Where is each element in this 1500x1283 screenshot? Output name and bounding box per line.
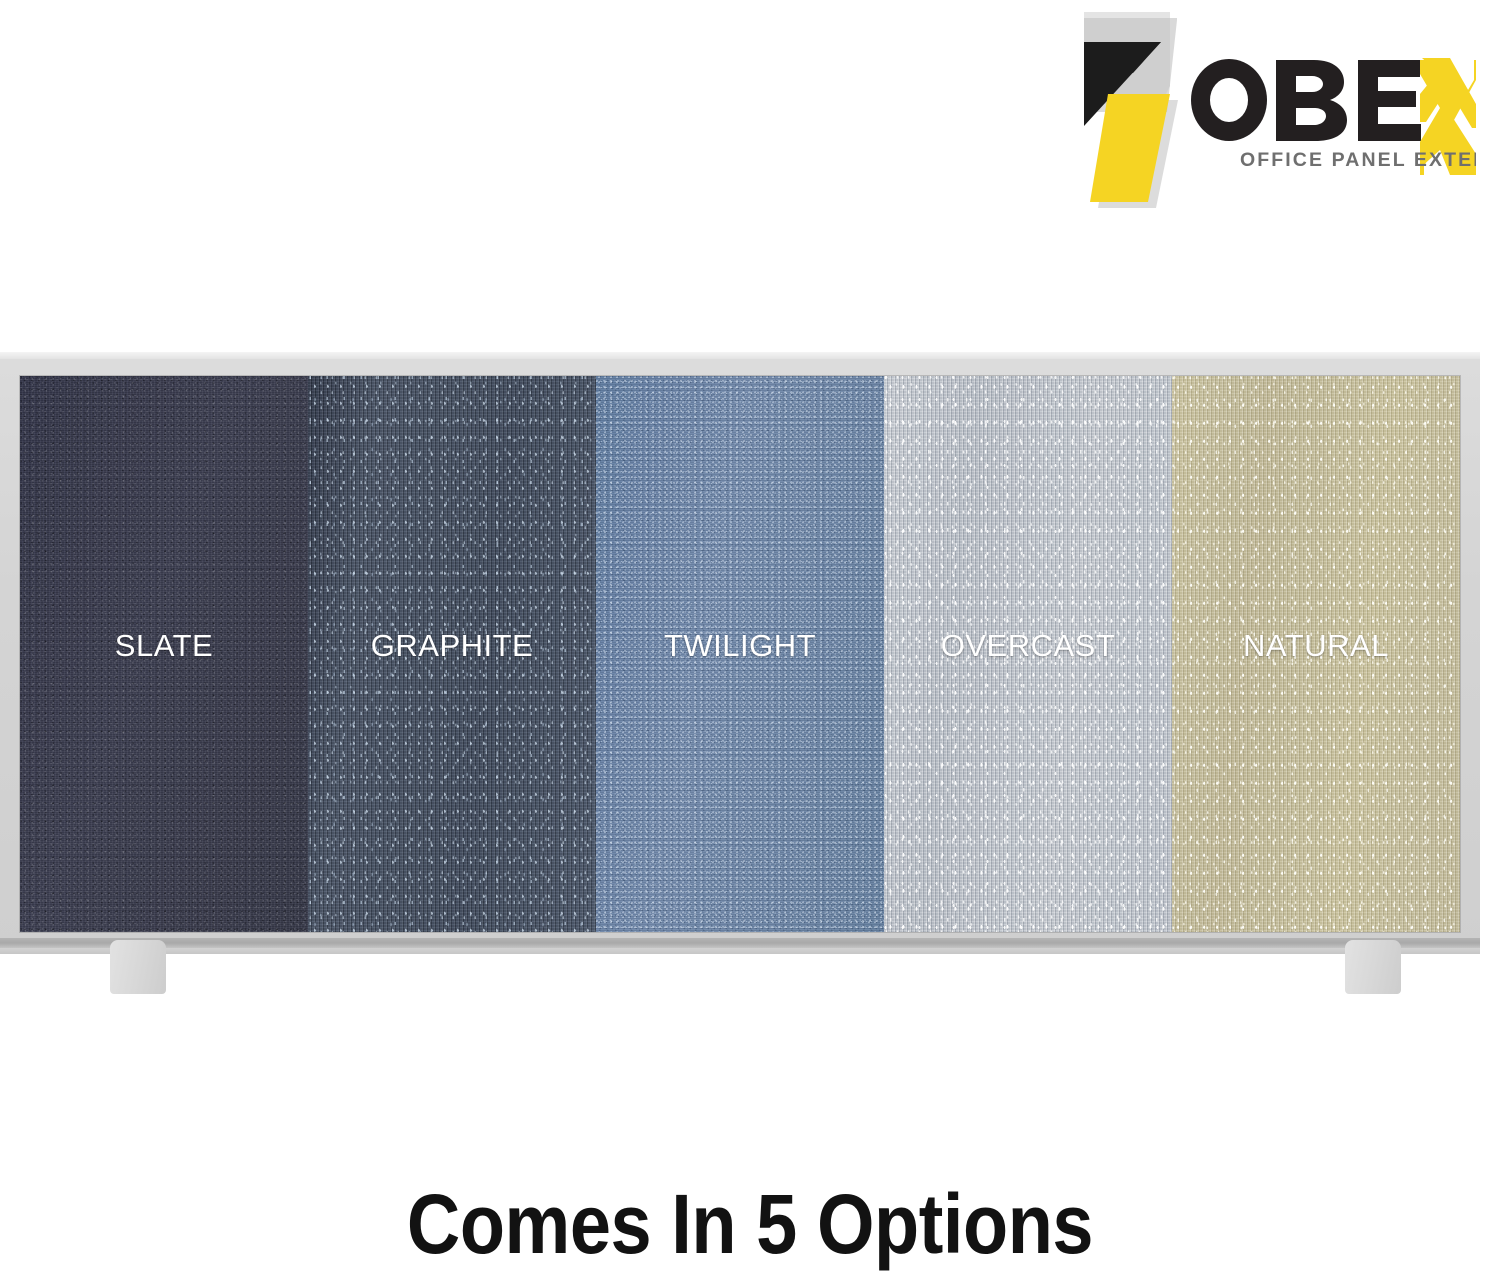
obex-logo-mark — [1070, 8, 1195, 208]
fabric-swatch-strip: SLATE GRAPHITE TWILIGHT OVERCAST NATURAL — [20, 376, 1460, 932]
logo-silver-highlight — [1084, 12, 1170, 18]
swatch-label-twilight: TWILIGHT — [596, 628, 884, 664]
frame-top-highlight — [0, 352, 1480, 359]
mounting-foot-left — [110, 940, 166, 1002]
swatch-graphite[interactable]: GRAPHITE — [308, 376, 596, 932]
caption-comes-in-5-options: Comes In 5 Options — [90, 1176, 1410, 1273]
logo-letter-B — [1276, 60, 1347, 141]
panel-frame: SLATE GRAPHITE TWILIGHT OVERCAST NATURAL — [0, 352, 1480, 954]
logo-letter-E — [1358, 60, 1421, 141]
swatch-label-natural: NATURAL — [1172, 628, 1460, 664]
swatch-slate[interactable]: SLATE — [20, 376, 308, 932]
panel-extender-product: SLATE GRAPHITE TWILIGHT OVERCAST NATURAL — [0, 348, 1483, 958]
swatch-label-slate: SLATE — [20, 628, 308, 664]
frame-bottom-edge — [0, 948, 1480, 954]
swatch-twilight[interactable]: TWILIGHT — [596, 376, 884, 932]
swatch-overcast[interactable]: OVERCAST — [884, 376, 1172, 932]
mounting-foot-right — [1345, 940, 1401, 1002]
swatch-label-overcast: OVERCAST — [884, 628, 1172, 664]
swatch-label-graphite: GRAPHITE — [308, 628, 596, 664]
foot-body — [1345, 940, 1401, 994]
obex-logo: OFFICE PANEL EXTENDERS — [1070, 8, 1470, 208]
foot-body — [110, 940, 166, 994]
frame-bottom-rail — [0, 938, 1480, 948]
obex-wordmark: OFFICE PANEL EXTENDERS — [1188, 50, 1476, 175]
swatch-natural[interactable]: NATURAL — [1172, 376, 1460, 932]
obex-tagline-text: OFFICE PANEL EXTENDERS — [1240, 149, 1476, 171]
